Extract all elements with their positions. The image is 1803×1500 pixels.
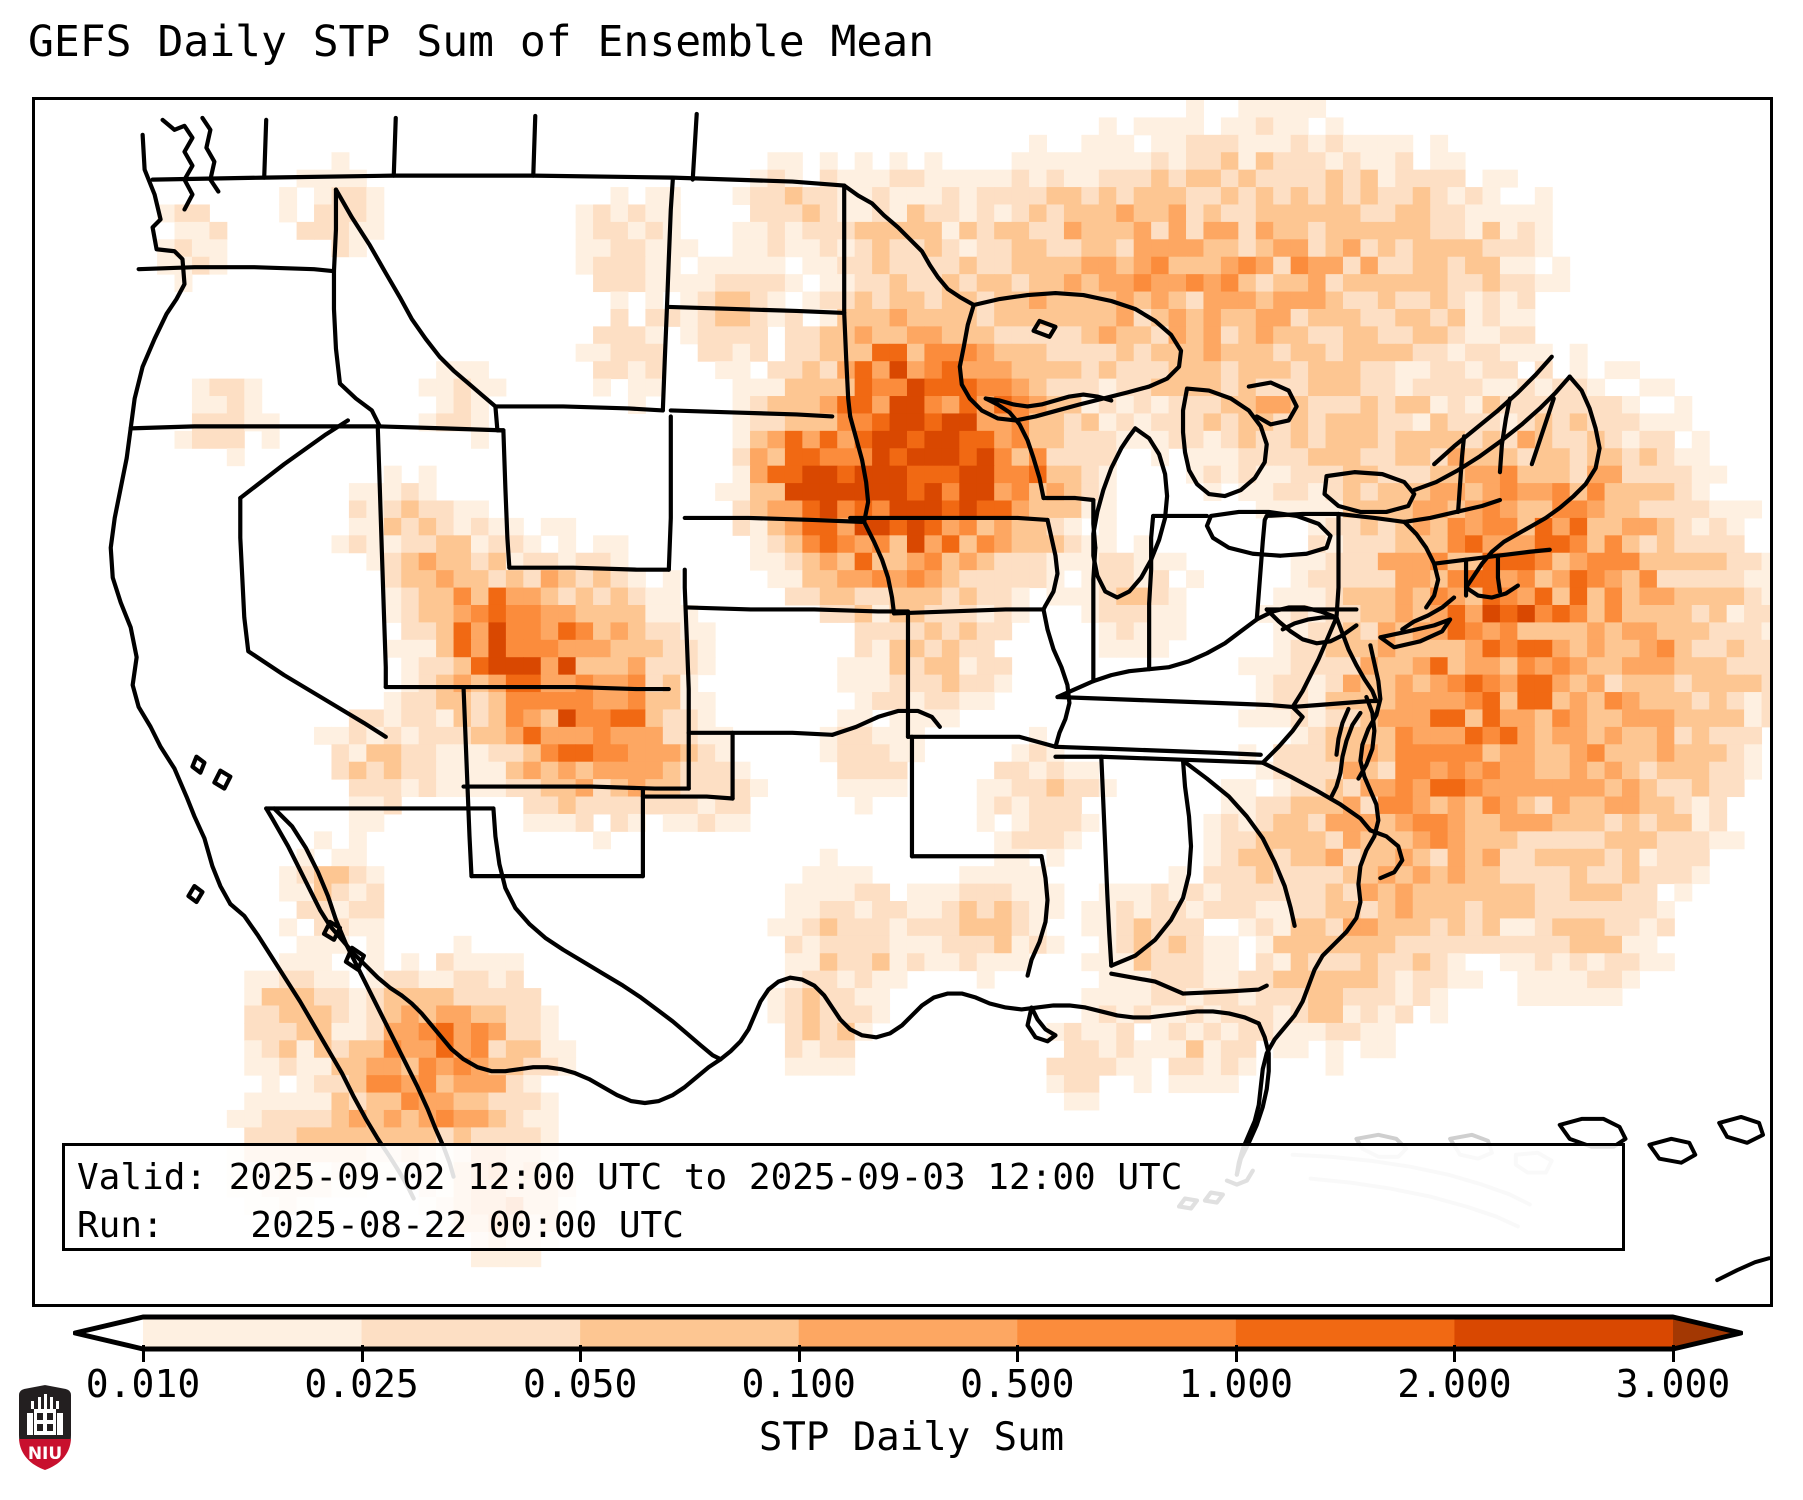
data-cell xyxy=(488,1023,506,1041)
data-cell xyxy=(1029,762,1047,780)
data-cell xyxy=(1186,204,1204,222)
data-cell xyxy=(1203,1058,1221,1076)
data-cell xyxy=(628,640,646,658)
data-cell xyxy=(977,901,995,919)
data-cell xyxy=(1622,622,1640,640)
data-cell xyxy=(924,953,942,971)
data-cell xyxy=(1308,744,1326,762)
data-cell xyxy=(1517,918,1535,936)
data-cell xyxy=(611,535,629,553)
data-cell xyxy=(1587,884,1605,902)
data-cell xyxy=(209,396,227,414)
data-cell xyxy=(1639,622,1657,640)
data-cell xyxy=(872,257,890,275)
data-cell xyxy=(436,501,454,519)
data-cell xyxy=(523,657,541,675)
data-cell xyxy=(1081,309,1099,327)
data-cell xyxy=(1657,605,1675,623)
data-cell xyxy=(1343,518,1361,536)
data-cell xyxy=(959,535,977,553)
data-cell xyxy=(1291,866,1309,884)
data-cell xyxy=(1465,379,1483,397)
data-cell xyxy=(331,1093,349,1111)
data-cell xyxy=(1587,779,1605,797)
data-cell xyxy=(977,239,995,257)
data-cell xyxy=(750,448,768,466)
data-cell xyxy=(1308,257,1326,275)
data-cell xyxy=(1064,831,1082,849)
data-cell xyxy=(488,535,506,553)
data-cell xyxy=(1674,831,1692,849)
data-cell xyxy=(1273,797,1291,815)
data-cell xyxy=(1343,239,1361,257)
data-cell xyxy=(1674,814,1692,832)
data-cell xyxy=(1308,814,1326,832)
data-cell xyxy=(1273,309,1291,327)
data-cell xyxy=(1343,152,1361,170)
data-cell xyxy=(1326,379,1344,397)
data-cell xyxy=(1273,135,1291,153)
data-cell xyxy=(1622,605,1640,623)
data-cell xyxy=(1169,222,1187,240)
data-cell xyxy=(506,988,524,1006)
data-cell xyxy=(1482,292,1500,310)
data-cell xyxy=(1639,483,1657,501)
data-cell xyxy=(1291,466,1309,484)
data-cell xyxy=(1116,1040,1134,1058)
data-cell xyxy=(1081,326,1099,344)
data-cell xyxy=(1186,884,1204,902)
data-cell xyxy=(1709,692,1727,710)
data-cell xyxy=(907,953,925,971)
data-cell xyxy=(1657,588,1675,606)
data-cell xyxy=(558,692,576,710)
data-cell xyxy=(331,849,349,867)
data-cell xyxy=(1552,640,1570,658)
data-cell xyxy=(262,431,280,449)
data-cell xyxy=(576,257,594,275)
data-cell xyxy=(1186,570,1204,588)
data-cell xyxy=(1326,117,1344,135)
data-cell xyxy=(349,518,367,536)
data-cell xyxy=(1291,1023,1309,1041)
data-cell xyxy=(1169,953,1187,971)
data-cell xyxy=(1448,675,1466,693)
data-cell xyxy=(576,605,594,623)
data-cell xyxy=(1639,675,1657,693)
data-cell xyxy=(1099,988,1117,1006)
data-cell xyxy=(1535,675,1553,693)
data-cell xyxy=(1605,918,1623,936)
data-cell xyxy=(488,1075,506,1093)
data-cell xyxy=(1395,344,1413,362)
data-cell xyxy=(1692,675,1710,693)
data-cell xyxy=(1081,988,1099,1006)
data-cell xyxy=(645,361,663,379)
data-cell xyxy=(924,292,942,310)
data-cell xyxy=(279,918,297,936)
data-cell xyxy=(785,570,803,588)
data-cell xyxy=(1500,727,1518,745)
data-cell xyxy=(1413,692,1431,710)
data-cell xyxy=(645,744,663,762)
data-cell xyxy=(1482,744,1500,762)
data-cell xyxy=(384,570,402,588)
data-cell xyxy=(1622,361,1640,379)
data-cell xyxy=(855,866,873,884)
data-cell xyxy=(297,953,315,971)
data-cell xyxy=(645,292,663,310)
data-cell xyxy=(628,588,646,606)
data-cell xyxy=(1273,222,1291,240)
data-cell xyxy=(942,605,960,623)
data-cell xyxy=(1151,239,1169,257)
data-cell xyxy=(1012,448,1030,466)
data-cell xyxy=(924,326,942,344)
data-cell xyxy=(1639,918,1657,936)
data-cell xyxy=(1360,413,1378,431)
data-cell xyxy=(1273,239,1291,257)
data-cell xyxy=(645,588,663,606)
data-cell xyxy=(837,553,855,571)
data-cell xyxy=(1116,918,1134,936)
data-cell xyxy=(1064,588,1082,606)
data-cell xyxy=(244,1023,262,1041)
data-cell xyxy=(1395,152,1413,170)
colorbar-tick-label: 0.100 xyxy=(742,1362,856,1406)
data-cell xyxy=(820,361,838,379)
data-cell xyxy=(872,413,890,431)
data-cell xyxy=(471,744,489,762)
data-cell xyxy=(1622,518,1640,536)
data-cell xyxy=(733,257,751,275)
data-cell xyxy=(1535,727,1553,745)
data-cell xyxy=(1727,501,1745,519)
data-cell xyxy=(1587,727,1605,745)
data-cell xyxy=(1570,431,1588,449)
data-cell xyxy=(1099,640,1117,658)
data-cell xyxy=(855,692,873,710)
data-cell xyxy=(1291,657,1309,675)
data-cell xyxy=(907,918,925,936)
data-cell xyxy=(1692,779,1710,797)
data-cell xyxy=(1360,936,1378,954)
data-cell xyxy=(837,483,855,501)
data-cell xyxy=(1221,257,1239,275)
data-cell xyxy=(401,518,419,536)
data-cell xyxy=(1587,709,1605,727)
data-cell xyxy=(1134,884,1152,902)
data-cell xyxy=(750,187,768,205)
data-cell xyxy=(1674,779,1692,797)
data-cell xyxy=(872,779,890,797)
data-cell xyxy=(1605,431,1623,449)
data-cell xyxy=(1395,762,1413,780)
data-cell xyxy=(1465,466,1483,484)
data-cell xyxy=(890,744,908,762)
data-cell xyxy=(1291,953,1309,971)
data-cell xyxy=(1308,727,1326,745)
data-cell xyxy=(750,413,768,431)
data-cell xyxy=(1116,1058,1134,1076)
data-cell xyxy=(1570,692,1588,710)
data-cell xyxy=(1029,379,1047,397)
data-cell xyxy=(436,605,454,623)
data-cell xyxy=(977,222,995,240)
data-cell xyxy=(924,344,942,362)
data-cell xyxy=(1291,117,1309,135)
data-cell xyxy=(907,361,925,379)
data-cell xyxy=(767,379,785,397)
data-cell xyxy=(436,762,454,780)
data-cell xyxy=(1169,292,1187,310)
data-cell xyxy=(523,675,541,693)
data-cell xyxy=(1378,187,1396,205)
data-cell xyxy=(855,292,873,310)
data-cell xyxy=(1535,605,1553,623)
data-cell xyxy=(1134,535,1152,553)
data-cell xyxy=(959,466,977,484)
data-cell xyxy=(680,239,698,257)
data-cell xyxy=(1291,971,1309,989)
data-cell xyxy=(628,257,646,275)
data-cell xyxy=(1727,553,1745,571)
data-cell xyxy=(1169,1040,1187,1058)
data-cell xyxy=(628,692,646,710)
data-cell xyxy=(366,744,384,762)
data-cell xyxy=(593,605,611,623)
data-cell xyxy=(1709,466,1727,484)
data-cell xyxy=(1238,292,1256,310)
data-cell xyxy=(628,727,646,745)
data-cell xyxy=(820,239,838,257)
data-cell xyxy=(924,535,942,553)
data-cell xyxy=(1081,762,1099,780)
data-cell xyxy=(733,466,751,484)
data-cell xyxy=(1657,675,1675,693)
data-cell xyxy=(349,814,367,832)
data-cell xyxy=(1029,239,1047,257)
data-cell xyxy=(1465,744,1483,762)
data-cell xyxy=(942,640,960,658)
data-cell xyxy=(977,570,995,588)
data-cell xyxy=(1378,396,1396,414)
data-cell xyxy=(1081,814,1099,832)
data-cell xyxy=(785,274,803,292)
data-cell xyxy=(1081,187,1099,205)
data-cell xyxy=(1343,257,1361,275)
data-cell xyxy=(1605,413,1623,431)
data-cell xyxy=(436,535,454,553)
data-cell xyxy=(1587,762,1605,780)
data-cell xyxy=(1587,605,1605,623)
data-cell xyxy=(802,361,820,379)
data-cell xyxy=(924,518,942,536)
data-cell xyxy=(1012,222,1030,240)
data-cell xyxy=(1186,1075,1204,1093)
data-cell xyxy=(1291,257,1309,275)
data-cell xyxy=(611,657,629,675)
data-cell xyxy=(1448,936,1466,954)
data-cell xyxy=(419,501,437,519)
data-cell xyxy=(1570,640,1588,658)
data-cell xyxy=(785,239,803,257)
data-cell xyxy=(1500,640,1518,658)
data-cell xyxy=(872,379,890,397)
data-cell xyxy=(1360,292,1378,310)
data-cell xyxy=(959,518,977,536)
data-cell xyxy=(890,466,908,484)
data-cell xyxy=(1221,413,1239,431)
data-cell xyxy=(1221,1075,1239,1093)
data-cell xyxy=(1134,1058,1152,1076)
data-cell xyxy=(454,553,472,571)
data-cell xyxy=(454,535,472,553)
data-cell xyxy=(349,884,367,902)
data-cell xyxy=(1517,831,1535,849)
data-cell xyxy=(419,762,437,780)
data-cell xyxy=(994,379,1012,397)
data-cell xyxy=(1047,222,1065,240)
data-cell xyxy=(1639,884,1657,902)
data-cell xyxy=(802,1058,820,1076)
colorbar-axis-label: STP Daily Sum xyxy=(0,1415,1803,1461)
data-cell xyxy=(1360,222,1378,240)
data-cell xyxy=(436,1075,454,1093)
data-cell xyxy=(1465,204,1483,222)
data-cell xyxy=(767,152,785,170)
data-cell xyxy=(488,1005,506,1023)
data-cell xyxy=(1517,727,1535,745)
data-cell xyxy=(1256,117,1274,135)
data-cell xyxy=(593,588,611,606)
data-cell xyxy=(924,466,942,484)
data-cell xyxy=(1465,535,1483,553)
data-cell xyxy=(680,326,698,344)
data-cell xyxy=(628,344,646,362)
data-cell xyxy=(1221,117,1239,135)
data-cell xyxy=(1535,814,1553,832)
data-cell xyxy=(1256,309,1274,327)
data-cell xyxy=(1517,709,1535,727)
data-cell xyxy=(1482,379,1500,397)
data-cell xyxy=(1657,501,1675,519)
data-cell xyxy=(785,901,803,919)
data-cell xyxy=(1221,971,1239,989)
data-cell xyxy=(1448,239,1466,257)
data-cell xyxy=(1448,709,1466,727)
data-cell xyxy=(541,762,559,780)
data-cell xyxy=(471,953,489,971)
data-cell xyxy=(1134,901,1152,919)
data-cell xyxy=(820,204,838,222)
data-cell xyxy=(1430,831,1448,849)
data-cell xyxy=(1465,884,1483,902)
data-cell xyxy=(785,1023,803,1041)
data-cell xyxy=(558,518,576,536)
data-cell xyxy=(1465,518,1483,536)
data-cell xyxy=(1134,988,1152,1006)
data-cell xyxy=(1273,292,1291,310)
data-cell xyxy=(401,605,419,623)
data-cell xyxy=(1378,326,1396,344)
data-cell xyxy=(1570,762,1588,780)
data-cell xyxy=(855,379,873,397)
data-cell xyxy=(1430,431,1448,449)
data-cell xyxy=(1639,744,1657,762)
data-cell xyxy=(1727,675,1745,693)
data-cell xyxy=(1430,379,1448,397)
data-cell xyxy=(1552,448,1570,466)
data-cell xyxy=(401,953,419,971)
data-cell xyxy=(1221,326,1239,344)
data-cell xyxy=(1413,170,1431,188)
data-cell xyxy=(1343,361,1361,379)
data-cell xyxy=(1639,413,1657,431)
data-cell xyxy=(1343,831,1361,849)
data-cell xyxy=(1273,953,1291,971)
data-cell xyxy=(1727,518,1745,536)
data-cell xyxy=(1238,222,1256,240)
data-cell xyxy=(872,239,890,257)
data-cell xyxy=(1413,274,1431,292)
data-cell xyxy=(1535,204,1553,222)
data-cell xyxy=(593,709,611,727)
data-cell xyxy=(1413,814,1431,832)
data-cell xyxy=(523,1110,541,1128)
data-cell xyxy=(297,1040,315,1058)
data-cell xyxy=(1552,936,1570,954)
data-cell xyxy=(419,1058,437,1076)
data-cell xyxy=(1273,814,1291,832)
data-cell xyxy=(436,657,454,675)
data-cell xyxy=(1639,588,1657,606)
data-cell xyxy=(907,518,925,536)
data-cell xyxy=(454,657,472,675)
data-cell xyxy=(1029,501,1047,519)
data-cell xyxy=(1709,605,1727,623)
data-cell xyxy=(1709,622,1727,640)
data-cell xyxy=(1203,901,1221,919)
data-cell xyxy=(1081,204,1099,222)
data-cell xyxy=(994,274,1012,292)
data-cell xyxy=(1221,849,1239,867)
data-cell xyxy=(1482,204,1500,222)
data-cell xyxy=(1674,483,1692,501)
data-cell xyxy=(1482,361,1500,379)
data-cell xyxy=(977,170,995,188)
data-cell xyxy=(1570,814,1588,832)
data-cell xyxy=(1535,553,1553,571)
data-cell xyxy=(1727,692,1745,710)
data-cell xyxy=(1709,657,1727,675)
data-cell xyxy=(1622,779,1640,797)
data-cell xyxy=(1029,152,1047,170)
data-cell xyxy=(1692,535,1710,553)
data-cell xyxy=(1727,762,1745,780)
data-cell xyxy=(1448,657,1466,675)
data-cell xyxy=(698,709,716,727)
data-cell xyxy=(1448,326,1466,344)
data-cell xyxy=(1134,274,1152,292)
data-cell xyxy=(1291,797,1309,815)
data-cell xyxy=(1622,501,1640,519)
data-cell xyxy=(1064,361,1082,379)
data-cell xyxy=(1395,675,1413,693)
data-cell xyxy=(785,588,803,606)
data-cell xyxy=(1064,187,1082,205)
colorbar-tick-labels: 0.0100.0250.0500.1000.5001.0002.0003.000 xyxy=(0,1362,1803,1410)
